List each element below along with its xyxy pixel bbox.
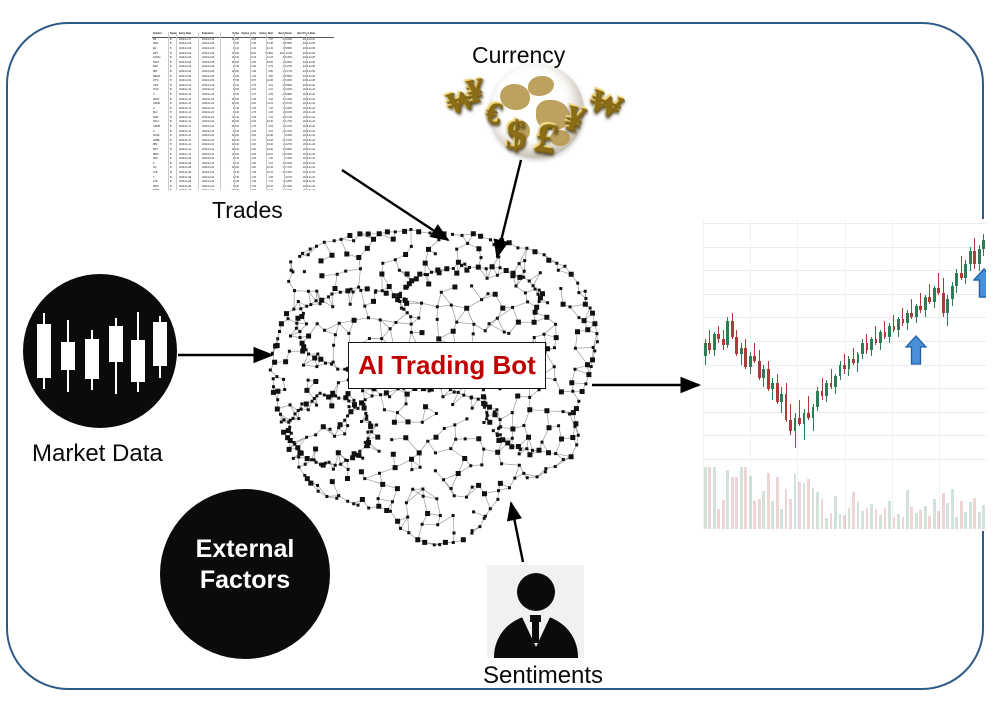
table-cell: 2019-11-22 bbox=[292, 148, 315, 152]
table-cell: 2019-12-06 bbox=[201, 79, 224, 83]
table-cell: MPT bbox=[152, 52, 169, 56]
table-cell: FB bbox=[152, 38, 169, 42]
candle-body bbox=[978, 249, 981, 264]
table-cell: IBM bbox=[152, 70, 169, 74]
table-cell: 285.00% bbox=[273, 153, 292, 157]
table-cell: ADSK bbox=[152, 134, 169, 138]
table-cell: GOOG bbox=[152, 56, 169, 60]
table-cell: 2019-12-06 bbox=[201, 61, 224, 65]
table-cell: 143.47% bbox=[273, 125, 292, 129]
table-cell: 2019-12-05 bbox=[292, 42, 315, 46]
volume-bar bbox=[843, 515, 846, 529]
candle-body bbox=[825, 383, 828, 396]
volume-bar bbox=[910, 507, 913, 529]
table-cell: 2019-11-22 bbox=[292, 180, 315, 184]
table-cell: 195.00 bbox=[224, 102, 239, 106]
sentiments-label: Sentiments bbox=[483, 662, 603, 690]
table-cell: 29.10 bbox=[224, 157, 239, 161]
table-cell: 125.00 bbox=[224, 134, 239, 138]
table-cell: 2019-11-22 bbox=[292, 116, 315, 120]
candle-body bbox=[735, 337, 738, 355]
candle-body bbox=[848, 359, 851, 370]
candle-body bbox=[740, 348, 743, 355]
volume-bar bbox=[915, 513, 918, 529]
table-cell: 2019-12-21 bbox=[201, 176, 224, 180]
table-cell: 36.20 bbox=[224, 75, 239, 79]
table-cell: B bbox=[169, 157, 178, 161]
table-cell: B bbox=[169, 139, 178, 143]
table-cell: 2019-11-22 bbox=[292, 88, 315, 92]
table-cell: 2019-11-22 bbox=[292, 98, 315, 102]
table-cell: 2019-12-21 bbox=[201, 148, 224, 152]
table-cell: 1.04 bbox=[239, 130, 256, 134]
volume-bar bbox=[884, 508, 887, 529]
table-cell: 213.47% bbox=[273, 139, 292, 143]
table-cell: 2019-12-05 bbox=[292, 56, 315, 60]
table-column-divider bbox=[220, 32, 221, 190]
volume-bar bbox=[897, 514, 900, 529]
table-cell: 2019-11-22 bbox=[292, 139, 315, 143]
candle-body bbox=[753, 356, 756, 360]
table-cell: IBM bbox=[152, 143, 169, 147]
table-cell: BLF bbox=[152, 111, 169, 115]
table-cell: 2019-12-21 bbox=[201, 153, 224, 157]
table-cell: 2019-11-22 bbox=[201, 98, 224, 102]
table-cell: 2019-11-22 bbox=[292, 111, 315, 115]
table-cell: 42.90 bbox=[256, 61, 273, 65]
table-cell: 4.03 bbox=[256, 111, 273, 115]
table-cell: 2019-12-21 bbox=[201, 143, 224, 147]
table-cell: B bbox=[169, 162, 178, 166]
table-cell: B bbox=[169, 70, 178, 74]
table-cell: B bbox=[169, 130, 178, 134]
candle-body bbox=[843, 365, 846, 369]
table-cell: 201.73% bbox=[273, 120, 292, 124]
table-cell: 2019-12-06 bbox=[201, 70, 224, 74]
table-cell: 1.00 bbox=[239, 162, 256, 166]
table-cell: 60.10 bbox=[224, 84, 239, 88]
table-cell: 1.01 bbox=[239, 88, 256, 92]
table-cell: 2019-11-22 bbox=[201, 102, 224, 106]
table-cell: Next Price Date bbox=[292, 32, 315, 36]
candle-body bbox=[982, 240, 985, 249]
volume-bar bbox=[726, 470, 729, 529]
volume-bar bbox=[798, 482, 801, 529]
candle-body bbox=[906, 313, 909, 324]
table-cell: 19.10 bbox=[256, 185, 273, 189]
table-cell: 195.89% bbox=[273, 61, 292, 65]
table-cell: SQ bbox=[152, 166, 169, 170]
table-cell: Option Entry bbox=[239, 32, 256, 36]
table-cell: 265.00% bbox=[273, 79, 292, 83]
table-cell: 2019-12-06 bbox=[201, 56, 224, 60]
table-cell: 1.05 bbox=[239, 116, 256, 120]
table-cell: B bbox=[169, 102, 178, 106]
table-cell: EQ bbox=[152, 47, 169, 51]
table-cell: 2019-12-21 bbox=[201, 162, 224, 166]
table-cell: 2019-11-22 bbox=[292, 102, 315, 106]
table-cell: 179.17% bbox=[273, 70, 292, 74]
candle-body bbox=[964, 264, 967, 277]
table-cell: 176.97% bbox=[273, 65, 292, 69]
table-cell: 2019-11-22 bbox=[292, 189, 315, 190]
candle-body bbox=[744, 348, 747, 368]
volume-bar bbox=[740, 467, 743, 529]
candle-body bbox=[857, 354, 860, 363]
candle-body bbox=[776, 383, 779, 403]
table-cell: B bbox=[169, 176, 178, 180]
candle-body bbox=[928, 297, 931, 301]
table-cell: 27.00 bbox=[224, 93, 239, 97]
table-cell: 5.80 bbox=[256, 70, 273, 74]
table-cell: 2019-12-21 bbox=[201, 139, 224, 143]
table-cell: 39.50 bbox=[224, 88, 239, 92]
table-cell: 103.47% bbox=[273, 130, 292, 134]
volume-bar bbox=[870, 504, 873, 529]
table-cell: B bbox=[169, 79, 178, 83]
table-cell: 57.50 bbox=[224, 79, 239, 83]
volume-bar bbox=[875, 509, 878, 529]
table-cell: AMD bbox=[152, 116, 169, 120]
table-cell: B bbox=[169, 98, 178, 102]
trades-label: Trades bbox=[212, 197, 283, 224]
table-cell: 74.67% bbox=[273, 176, 292, 180]
volume-bar bbox=[852, 492, 855, 529]
table-cell: B bbox=[169, 134, 178, 138]
table-cell: X bbox=[152, 93, 169, 97]
table-cell: 198.85% bbox=[273, 84, 292, 88]
table-cell: 1.40 bbox=[256, 157, 273, 161]
table-cell: 2019-11-22 bbox=[292, 162, 315, 166]
candle-body bbox=[942, 293, 945, 313]
table-cell: 2019-12-05 bbox=[273, 52, 292, 56]
table-cell: 385.95% bbox=[273, 42, 292, 46]
table-cell: 14.23 bbox=[256, 56, 273, 60]
table-cell: 12.32 bbox=[256, 166, 273, 170]
table-cell: FDX bbox=[152, 157, 169, 161]
table-cell: Y bbox=[152, 176, 169, 180]
table-cell: 275.00 bbox=[224, 52, 239, 56]
table-cell: 1.75 bbox=[239, 84, 256, 88]
table-cell: Strike bbox=[224, 32, 239, 36]
table-cell: 7.21 bbox=[256, 180, 273, 184]
external-factors-circle: External Factors bbox=[160, 489, 330, 659]
table-cell: 2019-11-22 bbox=[201, 111, 224, 115]
table-cell: 2019-12-06 bbox=[201, 75, 224, 79]
table-cell: 2019-12-21 bbox=[201, 166, 224, 170]
table-cell: 184.27% bbox=[273, 143, 292, 147]
table-cell: 2019-12-05 bbox=[292, 61, 315, 65]
candle-body bbox=[893, 326, 896, 330]
table-cell: 12.32 bbox=[256, 47, 273, 51]
candle-body bbox=[807, 413, 810, 417]
table-cell: 27.00 bbox=[224, 65, 239, 69]
table-cell: 143.00 bbox=[224, 148, 239, 152]
table-cell: 3.00 bbox=[239, 148, 256, 152]
table-cell: 2019-11-22 bbox=[292, 130, 315, 134]
table-cell: 1.09 bbox=[239, 70, 256, 74]
table-cell: 2019-11-22 bbox=[292, 166, 315, 170]
table-column-divider bbox=[266, 32, 267, 190]
table-cell: 2019-11-22 bbox=[292, 107, 315, 111]
table-cell: Symbol bbox=[152, 32, 169, 36]
buy-signal-arrow-icon bbox=[905, 335, 927, 365]
table-cell: 1.03 bbox=[239, 157, 256, 161]
candle-body bbox=[731, 321, 734, 336]
volume-bar bbox=[708, 467, 711, 529]
table-cell: 24.45 bbox=[256, 79, 273, 83]
volume-bar bbox=[785, 489, 788, 529]
table-cell: 2019-12-06 bbox=[201, 47, 224, 51]
table-cell: 1.49 bbox=[239, 180, 256, 184]
candle-body bbox=[839, 365, 842, 376]
candle-body bbox=[704, 343, 707, 356]
table-cell: 139.05% bbox=[273, 148, 292, 152]
table-cell: 16.12 bbox=[256, 171, 273, 175]
table-cell: 2019-11-22 bbox=[292, 125, 315, 129]
table-cell: Next Return bbox=[273, 32, 292, 36]
table-cell: VIAS bbox=[152, 88, 169, 92]
table-cell: MRK bbox=[152, 42, 169, 46]
volume-bar bbox=[906, 490, 909, 529]
table-cell: 2019-12-06 bbox=[201, 65, 224, 69]
candle-body bbox=[726, 321, 729, 345]
table-cell: 1.07 bbox=[239, 93, 256, 97]
table-cell: B bbox=[169, 38, 178, 42]
table-cell: 7.87 bbox=[256, 38, 273, 42]
table-cell: 263.00 bbox=[224, 125, 239, 129]
candle-body bbox=[866, 343, 869, 350]
table-cell: 2019-11-22 bbox=[292, 134, 315, 138]
table-cell: B bbox=[169, 189, 178, 190]
table-cell: 81.18% bbox=[273, 157, 292, 161]
table-cell: B bbox=[169, 125, 178, 129]
candle-body bbox=[816, 391, 819, 406]
table-cell: 206.17% bbox=[273, 116, 292, 120]
candle-body bbox=[960, 273, 963, 277]
table-cell: 3.01 bbox=[256, 125, 273, 129]
candle-body bbox=[798, 418, 801, 425]
table-cell: 19.07 bbox=[256, 153, 273, 157]
table-cell: 162.04% bbox=[273, 98, 292, 102]
table-cell: 4.05 bbox=[239, 38, 256, 42]
table-cell: 165.00 bbox=[224, 38, 239, 42]
table-cell: 314.78% bbox=[273, 171, 292, 175]
candle-body bbox=[758, 361, 761, 379]
candle-body bbox=[767, 369, 770, 389]
table-cell: 2019-12-21 bbox=[201, 134, 224, 138]
candle-body bbox=[933, 288, 936, 301]
volume-bar bbox=[933, 499, 936, 529]
volume-bar bbox=[937, 511, 940, 529]
table-cell: 2019-12-21 bbox=[201, 171, 224, 175]
table-cell: 2019-12-05 bbox=[292, 70, 315, 74]
table-cell: 19.10 bbox=[256, 143, 273, 147]
candle-body bbox=[902, 319, 905, 323]
volume-bar bbox=[744, 467, 747, 529]
table-cell: B bbox=[169, 116, 178, 120]
candle-body bbox=[785, 394, 788, 420]
table-cell: 2019-11-22 bbox=[201, 116, 224, 120]
table-cell: 2019-11-22 bbox=[292, 176, 315, 180]
candle-body bbox=[749, 356, 752, 367]
table-cell: 11.27 bbox=[256, 189, 273, 190]
volume-bar bbox=[713, 467, 716, 529]
candle-body bbox=[879, 332, 882, 343]
table-cell: 1.75 bbox=[239, 125, 256, 129]
table-cell: B bbox=[169, 65, 178, 69]
table-row: BABAB2019-11-082019-12-21145.007.0511.27… bbox=[152, 189, 334, 190]
table-cell: DBA/P bbox=[152, 75, 169, 79]
candle-body bbox=[955, 273, 958, 286]
volume-bar bbox=[839, 514, 842, 529]
table-cell: 2019-11-22 bbox=[292, 143, 315, 147]
table-cell: 2019-12-05 bbox=[292, 79, 315, 83]
table-cell: NFLX bbox=[152, 61, 169, 65]
table-cell: PRU bbox=[152, 65, 169, 69]
table-cell: 2.00 bbox=[239, 143, 256, 147]
table-cell: 2019-12-20 bbox=[292, 84, 315, 88]
volume-bar bbox=[821, 499, 824, 529]
table-cell: B bbox=[169, 153, 178, 157]
table-column-divider bbox=[250, 32, 251, 190]
volume-bar bbox=[888, 501, 891, 529]
table-cell: 194.02% bbox=[273, 107, 292, 111]
table-cell: ADBE bbox=[152, 139, 169, 143]
table-cell: B bbox=[169, 107, 178, 111]
table-cell: 138.15% bbox=[273, 111, 292, 115]
table-cell: 99.10 bbox=[224, 107, 239, 111]
external-factors-label-line1: External bbox=[160, 534, 330, 565]
table-cell: 199.10 bbox=[224, 56, 239, 60]
table-cell: 4.19 bbox=[239, 47, 256, 51]
table-cell: GRUB bbox=[152, 125, 169, 129]
table-cell: 7.10 bbox=[256, 107, 273, 111]
table-cell: 4.45 bbox=[239, 42, 256, 46]
table-cell: 25.38 bbox=[224, 180, 239, 184]
table-cell: 2019-12-21 bbox=[292, 38, 315, 42]
table-cell: 79.48% bbox=[256, 52, 273, 56]
volume-bar bbox=[812, 488, 815, 529]
table-cell: 201.00% bbox=[273, 185, 292, 189]
candle-wick bbox=[709, 330, 710, 354]
volume-bar bbox=[780, 509, 783, 529]
volume-bar bbox=[861, 511, 864, 529]
candlestick-chart-icon bbox=[703, 219, 986, 531]
table-cell: LYB bbox=[152, 171, 169, 175]
table-cell: 1.49 bbox=[239, 171, 256, 175]
table-cell: 12.90 bbox=[256, 134, 273, 138]
volume-bar bbox=[893, 517, 896, 529]
volume-bar bbox=[924, 506, 927, 529]
table-cell: 78.50 bbox=[224, 42, 239, 46]
table-cell: C bbox=[152, 107, 169, 111]
volume-bar bbox=[762, 491, 765, 529]
table-cell: 49.10 bbox=[224, 162, 239, 166]
table-cell: B bbox=[169, 56, 178, 60]
candle-body bbox=[771, 383, 774, 390]
volume-bar bbox=[964, 512, 967, 529]
volume-bar bbox=[982, 505, 985, 529]
volume-bar bbox=[758, 499, 761, 529]
candle-body bbox=[812, 407, 815, 418]
table-cell: 4.05 bbox=[256, 93, 273, 97]
table-cell: 7.15 bbox=[256, 116, 273, 120]
volume-bar bbox=[928, 516, 931, 529]
table-cell: 205.88% bbox=[273, 93, 292, 97]
candle-body bbox=[915, 306, 918, 317]
table-cell: 4.01 bbox=[256, 84, 273, 88]
volume-bar bbox=[789, 499, 792, 529]
market-data-label: Market Data bbox=[32, 440, 163, 468]
table-cell: 2019-11-22 bbox=[292, 93, 315, 97]
table-cell: Signal bbox=[169, 32, 178, 36]
table-cell: 249.00 bbox=[224, 139, 239, 143]
candle-body bbox=[897, 319, 900, 330]
volume-bar bbox=[969, 502, 972, 529]
table-cell: 21.38 bbox=[256, 42, 273, 46]
table-cell: 2019-12-21 bbox=[201, 189, 224, 190]
table-cell: 258.03% bbox=[273, 38, 292, 42]
table-cell: 7.05 bbox=[239, 189, 256, 190]
gridline-vertical bbox=[892, 219, 893, 529]
table-cell: VZ/P bbox=[152, 84, 169, 88]
volume-bar bbox=[749, 476, 752, 529]
volume-bar bbox=[866, 508, 869, 529]
table-cell: GRUB bbox=[152, 102, 169, 106]
table-cell: Option Next bbox=[256, 32, 273, 36]
table-cell: 1.07 bbox=[239, 139, 256, 143]
volume-bar bbox=[978, 512, 981, 529]
table-cell: 167.47% bbox=[273, 166, 292, 170]
table-cell: 2019-12-21 bbox=[201, 180, 224, 184]
trades-table-icon: SymbolSignalEntry DateExpirationStrikeOp… bbox=[152, 32, 334, 190]
table-cell: B bbox=[169, 42, 178, 46]
table-cell: 25.10 bbox=[224, 130, 239, 134]
table-cell: 2019-12-05 bbox=[292, 75, 315, 79]
table-cell: 2019-12-20 bbox=[201, 84, 224, 88]
volume-bar bbox=[825, 518, 828, 529]
table-cell: 25.30 bbox=[224, 176, 239, 180]
table-column-divider bbox=[176, 32, 177, 190]
table-column-divider bbox=[234, 32, 235, 190]
table-cell: BIDS bbox=[152, 153, 169, 157]
table-cell: 2019-12-21 bbox=[201, 120, 224, 124]
candle-body bbox=[789, 420, 792, 431]
table-cell: 13.93 bbox=[256, 139, 273, 143]
candle-body bbox=[937, 288, 940, 292]
table-cell: 28.00 bbox=[239, 52, 256, 56]
table-cell: 1.03 bbox=[239, 107, 256, 111]
external-factors-label-line2: Factors bbox=[160, 565, 330, 596]
table-cell: 124.25% bbox=[273, 180, 292, 184]
table-cell: 7.05 bbox=[239, 185, 256, 189]
table-cell: 113.18% bbox=[273, 88, 292, 92]
table-cell: WDH bbox=[152, 185, 169, 189]
table-cell: 4.05 bbox=[239, 153, 256, 157]
table-cell: 2019-11-22 bbox=[292, 171, 315, 175]
table-cell: 49.10 bbox=[224, 47, 239, 51]
table-cell: 6.75 bbox=[256, 65, 273, 69]
table-cell: 79.10 bbox=[224, 171, 239, 175]
table-cell: 304.57% bbox=[273, 102, 292, 106]
table-cell: B bbox=[169, 143, 178, 147]
currency-symbol-icon: ¥ bbox=[464, 70, 483, 111]
table-cell: B bbox=[169, 166, 178, 170]
businessman-icon bbox=[487, 565, 584, 658]
candle-body bbox=[888, 326, 891, 337]
diagram-canvas: SymbolSignalEntry DateExpirationStrikeOp… bbox=[0, 0, 1000, 706]
